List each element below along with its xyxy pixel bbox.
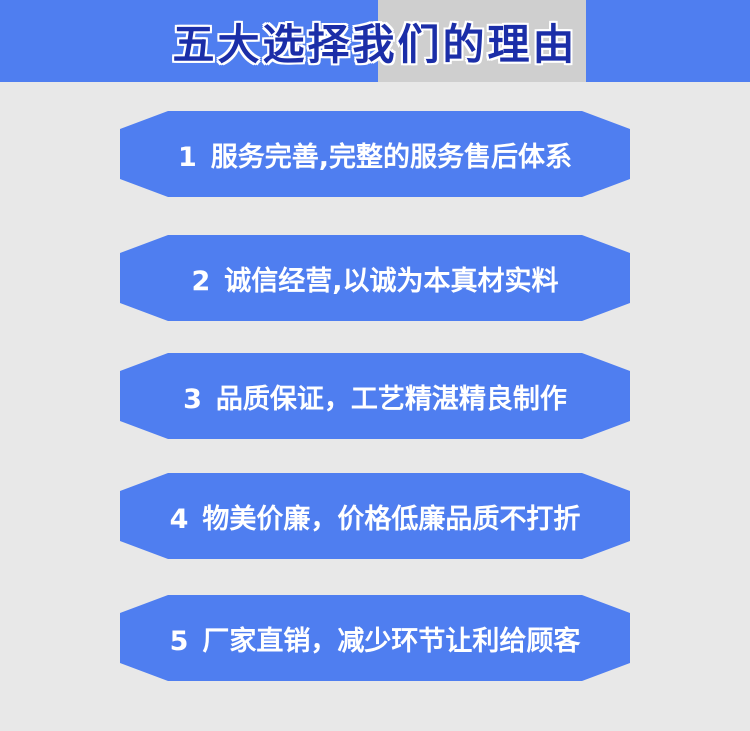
reason-list: 1 服务完善,完整的服务售后体系 2 诚信经营,以诚为本真材实料 3 品质保证，… [0,82,750,731]
reason-text-row-4: 4 物美价廉，价格低廉品质不打折 [170,497,581,536]
promo-poster: 五大选择我们的理由 1 服务完善,完整的服务售后体系 2 诚信经营,以诚为本真材… [0,0,750,731]
reason-item-2: 2 诚信经营,以诚为本真材实料 [0,218,750,338]
reason-number-2: 2 [191,266,210,297]
reason-label-4: 物美价廉，价格低廉品质不打折 [202,497,580,536]
reason-label-5: 厂家直销，减少环节让利给顾客 [202,619,580,658]
reason-number-4: 4 [170,504,189,535]
page-title: 五大选择我们的理由 [0,0,750,82]
reason-banner-4: 4 物美价廉，价格低廉品质不打折 [120,473,630,559]
reason-label-3: 品质保证，工艺精湛精良制作 [216,377,567,416]
reason-text-row-3: 3 品质保证，工艺精湛精良制作 [183,377,567,416]
reason-number-5: 5 [170,626,189,657]
reason-banner-2: 2 诚信经营,以诚为本真材实料 [120,235,630,321]
reason-item-5: 5 厂家直销，减少环节让利给顾客 [0,578,750,698]
reason-item-3: 3 品质保证，工艺精湛精良制作 [0,336,750,456]
reason-item-4: 4 物美价廉，价格低廉品质不打折 [0,456,750,576]
reason-number-3: 3 [183,384,202,415]
reason-text-row-1: 1 服务完善,完整的服务售后体系 [178,135,572,174]
reason-item-1: 1 服务完善,完整的服务售后体系 [0,94,750,214]
reason-number-1: 1 [178,142,197,173]
reason-banner-5: 5 厂家直销，减少环节让利给顾客 [120,595,630,681]
reason-banner-3: 3 品质保证，工艺精湛精良制作 [120,353,630,439]
reason-label-2: 诚信经营,以诚为本真材实料 [224,259,558,298]
header-band: 五大选择我们的理由 [0,0,750,82]
reason-text-row-2: 2 诚信经营,以诚为本真材实料 [191,259,558,298]
reason-label-1: 服务完善,完整的服务售后体系 [211,135,572,174]
reason-banner-1: 1 服务完善,完整的服务售后体系 [120,111,630,197]
reason-text-row-5: 5 厂家直销，减少环节让利给顾客 [170,619,581,658]
